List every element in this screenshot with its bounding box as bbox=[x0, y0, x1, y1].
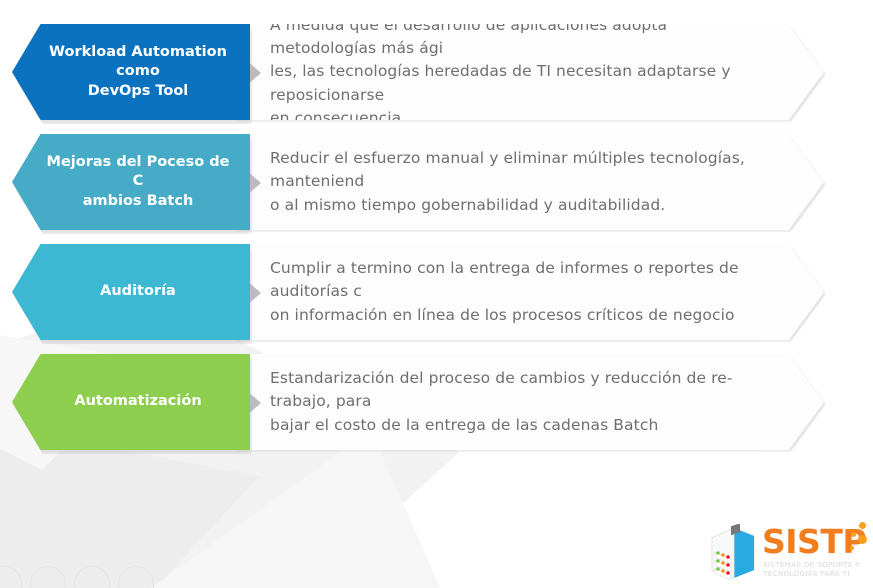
description-text: Reducir el esfuerzo manual y eliminar mú… bbox=[234, 147, 824, 217]
description-text: A medida que el desarrollo de aplicacion… bbox=[234, 14, 824, 130]
chevron-row: Cumplir a termino con la entrega de info… bbox=[0, 244, 873, 342]
chevron-label-mejoras-proceso-cambios-batch[interactable]: Mejoras del Poceso de C ambios Batch bbox=[12, 134, 250, 230]
description-panel: Reducir el esfuerzo manual y eliminar mú… bbox=[234, 134, 824, 230]
chevron-label-workload-automation[interactable]: Workload Automation como DevOps Tool bbox=[12, 24, 250, 120]
background-circle bbox=[74, 566, 110, 588]
background-circle bbox=[30, 566, 66, 588]
logo-dot bbox=[858, 535, 867, 544]
logo-dot bbox=[851, 532, 856, 537]
logo-wordmark: SISTP bbox=[762, 522, 866, 561]
logo-dot bbox=[850, 546, 854, 550]
chevron-label-text: Mejoras del Poceso de C ambios Batch bbox=[40, 153, 236, 212]
description-text: Cumplir a termino con la entrega de info… bbox=[234, 257, 824, 327]
description-panel: Estandarización del proceso de cambios y… bbox=[234, 354, 824, 450]
background-circle bbox=[0, 566, 22, 588]
description-text: Estandarización del proceso de cambios y… bbox=[234, 367, 824, 437]
chevron-row: Estandarización del proceso de cambios y… bbox=[0, 354, 873, 452]
chevron-label-text: Workload Automation como DevOps Tool bbox=[40, 43, 236, 102]
chevron-row: A medida que el desarrollo de aplicacion… bbox=[0, 24, 873, 122]
chevron-label-automatizacion[interactable]: Automatización bbox=[12, 354, 250, 450]
sistp-logo: SISTP SISTEMAS DE SOPORTE Y TECNOLOGIAS … bbox=[700, 520, 868, 584]
logo-subtitle: SISTEMAS DE SOPORTE Y TECNOLOGIAS PARA T… bbox=[763, 560, 860, 578]
slide-canvas: A medida que el desarrollo de aplicacion… bbox=[0, 0, 873, 588]
server-rack-icon bbox=[704, 524, 760, 580]
background-circles bbox=[0, 566, 154, 588]
background-circle bbox=[118, 566, 154, 588]
description-panel: A medida que el desarrollo de aplicacion… bbox=[234, 24, 824, 120]
chevron-label-auditoria[interactable]: Auditoría bbox=[12, 244, 250, 340]
description-panel: Cumplir a termino con la entrega de info… bbox=[234, 244, 824, 340]
chevron-label-text: Auditoría bbox=[100, 282, 176, 302]
chevron-row: Reducir el esfuerzo manual y eliminar mú… bbox=[0, 134, 873, 232]
chevron-label-text: Automatización bbox=[74, 392, 201, 412]
logo-dot bbox=[859, 522, 866, 529]
